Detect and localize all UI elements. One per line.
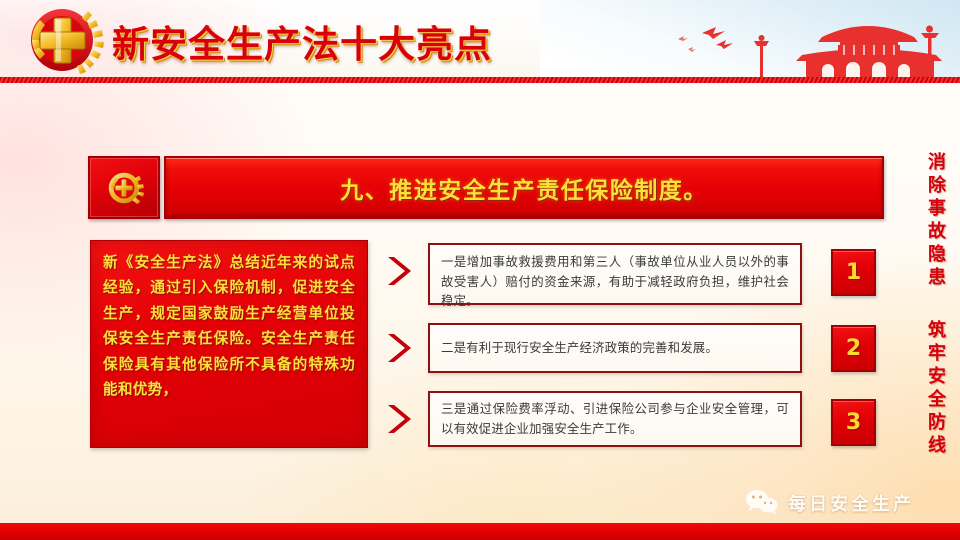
point-text-2: 二是有利于现行安全生产经济政策的完善和发展。 — [441, 338, 718, 358]
section-title-bar: 九、推进安全生产责任保险制度。 — [164, 156, 884, 219]
point-text-3: 三是通过保险费率浮动、引进保险公司参与企业安全管理，可以有效促进企业加强安全生产… — [441, 399, 789, 438]
point-box-3: 三是通过保险费率浮动、引进保险公司参与企业安全管理，可以有效促进企业加强安全生产… — [428, 391, 802, 447]
title-badge-emblem-icon — [88, 156, 160, 219]
safety-cross-wheat-emblem-icon — [8, 4, 116, 78]
point-box-2: 二是有利于现行安全生产经济政策的完善和发展。 — [428, 323, 802, 373]
point-text-1: 一是增加事故救援费用和第三人（事故单位从业人员以外的事故受害人）赔付的资金来源，… — [441, 252, 789, 311]
section-title-text: 九、推进安全生产责任保险制度。 — [340, 171, 708, 205]
point-number-badge-2: 2 — [831, 325, 876, 372]
section-title-row: 九、推进安全生产责任保险制度。 — [88, 156, 880, 215]
bottom-red-bar — [0, 523, 960, 540]
summary-red-panel: 新《安全生产法》总结近年来的试点经验，通过引入保险机制，促进安全生产，规定国家鼓… — [90, 240, 368, 448]
watermark-text: 每日安全生产 — [788, 490, 914, 516]
chevron-right-icon — [383, 331, 413, 365]
side-slogan-bottom: 筑牢安全防线 — [922, 320, 948, 458]
page-header: 新安全生产法十大亮点 — [0, 0, 960, 83]
point-number-badge-1: 1 — [831, 249, 876, 296]
slide-root: 新安全生产法十大亮点 — [0, 0, 960, 540]
summary-text: 新《安全生产法》总结近年来的试点经验，通过引入保险机制，促进安全生产，规定国家鼓… — [103, 250, 355, 402]
header-divider-stripe — [0, 77, 960, 83]
point-number-1: 1 — [846, 260, 861, 285]
side-slogan-top: 消除事故隐患 — [922, 152, 948, 290]
watermark: 每日安全生产 — [745, 488, 914, 518]
point-number-2: 2 — [846, 336, 861, 361]
chevron-right-icon — [383, 254, 413, 288]
header-title: 新安全生产法十大亮点 — [112, 14, 492, 68]
chevron-right-icon — [383, 402, 413, 436]
tiananmen-gate-icon — [654, 11, 954, 83]
point-number-3: 3 — [846, 410, 861, 435]
wechat-logo-icon — [745, 488, 779, 518]
point-box-1: 一是增加事故救援费用和第三人（事故单位从业人员以外的事故受害人）赔付的资金来源，… — [428, 243, 802, 305]
point-number-badge-3: 3 — [831, 399, 876, 446]
